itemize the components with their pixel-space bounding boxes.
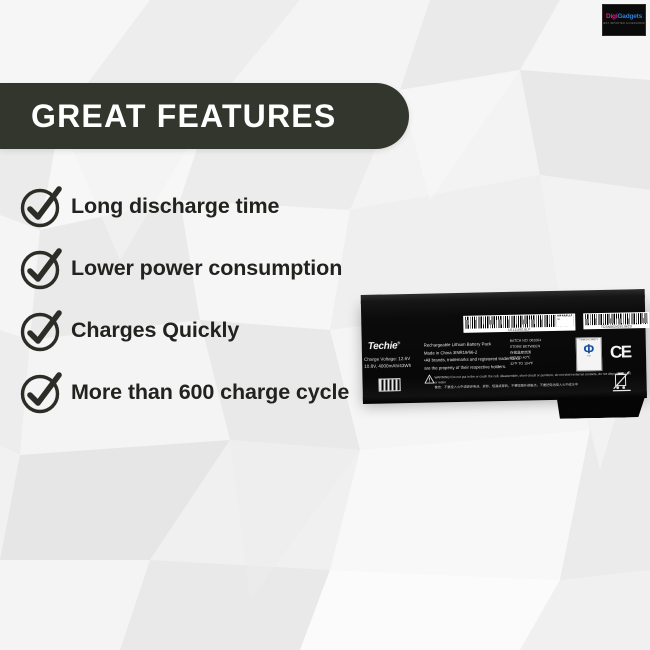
list-item-label: Lower power consumption [71,258,342,280]
product-batch-block: BATCH NO: 062004 STORE BETWEEN 存储温度范围 0℃… [510,338,542,367]
brand-logo-text: DigiGadgets [606,14,642,21]
product-description-line-4: are the property of their respective hol… [424,362,520,372]
check-circle-icon [18,370,64,416]
product-spec-block: Charge Voltage: 12.6V 10.8V, 4000mAh/43W… [364,356,411,371]
list-item-label: Long discharge time [71,196,279,218]
brand-logo-text-part-a: Digi [606,13,617,20]
product-warning-block: WARNING! Do not put in fire or crush the… [434,371,634,391]
check-circle-icon [18,246,64,292]
certification-bottom-label: CQC [587,356,591,358]
product-barcode-serial: TC5N86242619623 [583,312,649,330]
barcode-serial-value: TC5N86242619623 [601,324,632,329]
headline-banner: GREAT FEATURES [0,83,409,149]
poster-canvas: DigiGadgets BEST IMPORTED ACCESSORIES GR… [0,0,650,650]
warning-text-cn: 警告：不要投入火中或破碎电池、拆卸、短路或穿刺，不要短路外部触点，不要把电池投入… [435,382,635,391]
certification-badge: CHINA CCC SAFETY Φ CQC [576,337,603,372]
battery-foot-dots: . . . . . . . [569,406,607,411]
check-circle-icon [18,308,64,354]
product-spec-line-2: 10.8V, 4000mAh/43Wh [364,363,411,371]
product-batch-line-2: STORE BETWEEN [510,344,542,350]
battery-label-face: Techie® Charge Voltage: 12.6V 10.8V, 400… [361,295,647,401]
list-item-label: More than 600 charge cycle [71,382,349,404]
list-item: Long discharge time [18,176,438,238]
product-barcode-main: LE111681SLP LOT 0620 QC 08 [463,314,575,333]
brand-logo-tagline: BEST IMPORTED ACCESSORIES [602,23,646,26]
list-item-label: Charges Quickly [71,320,239,342]
battery-strip-icon [378,378,400,391]
barcode-bars [585,313,647,325]
ccc-mark-icon: Φ [583,342,594,355]
barcode-main-value: LE111681SLP [508,327,530,332]
ce-mark-icon: CE [610,343,631,360]
product-image-battery: Techie® Charge Voltage: 12.6V 10.8V, 400… [357,285,650,426]
check-circle-icon [18,184,64,230]
brand-logo-text-part-b: Gadgets [617,13,642,20]
product-description-block: Rechargeable Lithium Battery Pack Made i… [424,340,520,372]
product-brand-name: Techie® [368,340,400,352]
registered-trademark-symbol: ® [397,340,400,345]
warning-label: WARNING! [434,375,450,379]
page-title: GREAT FEATURES [0,100,336,132]
barcode-sidebox-label: LOT 0620 QC 08 [555,316,573,327]
product-batch-line-5: 32℉ TO 104℉ [510,361,542,367]
brand-logo-badge[interactable]: DigiGadgets BEST IMPORTED ACCESSORIES [602,4,646,36]
warning-triangle-icon [424,374,434,383]
